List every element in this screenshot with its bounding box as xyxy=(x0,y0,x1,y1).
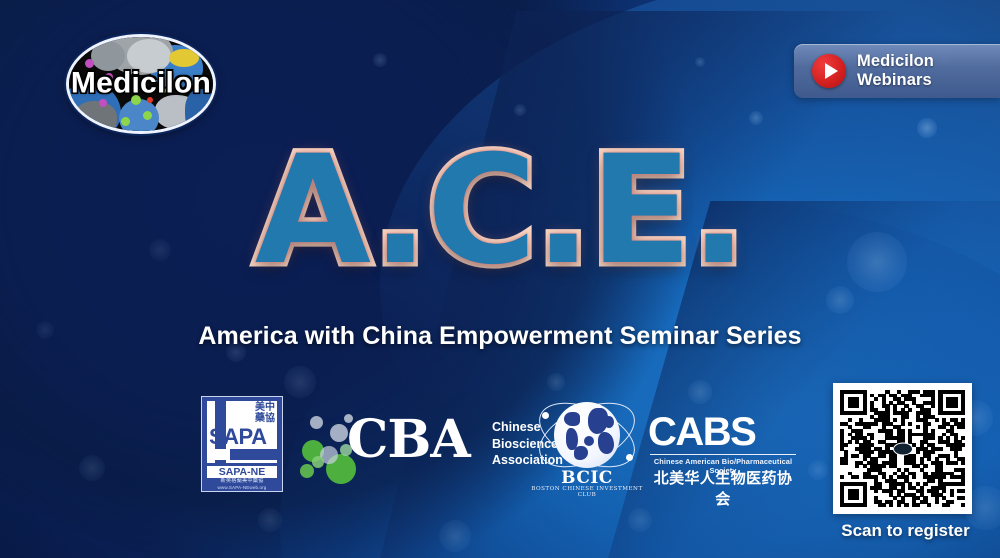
qr-code-icon[interactable] xyxy=(840,390,965,507)
partner-logo-bcic[interactable]: BCIC BOSTON CHINESE INVESTMENT CLUB xyxy=(528,390,646,500)
qr-center-logo-icon xyxy=(893,442,913,455)
cabs-divider xyxy=(650,454,796,455)
partner-logo-cba[interactable]: CBA Chinese Bioscience Association xyxy=(300,406,515,482)
sapa-chinese-subtitle: 新英格蘭美中藥協 xyxy=(207,478,277,485)
cba-wordmark: CBA xyxy=(347,412,470,468)
orbit-node-2 xyxy=(626,454,633,461)
cba-bubble xyxy=(312,456,324,468)
cba-bubble xyxy=(300,464,314,478)
globe-landmass xyxy=(574,446,588,460)
partner-logo-row: 美中 藥協 SAPA SAPA-NE 新英格蘭美中藥協 www.SAPA-NEw… xyxy=(0,388,820,508)
globe-landmass xyxy=(598,432,614,454)
medicilon-webinars-badge[interactable]: Medicilon Webinars xyxy=(794,44,1000,98)
sapa-cn-line1: 美中 xyxy=(255,403,275,414)
webinar-banner: Medicilon Medicilon Webinars A.C.E. Amer… xyxy=(0,0,1000,558)
webinars-badge-label: Medicilon Webinars xyxy=(857,52,934,91)
partner-logo-cabs[interactable]: CABS Chinese American Bio/Pharmaceutical… xyxy=(648,412,798,484)
orbit-node-1 xyxy=(542,412,549,419)
hero-title-wrap: A.C.E. xyxy=(0,136,1000,286)
globe-landmass xyxy=(564,412,580,426)
sapa-chinese-top: 美中 藥協 xyxy=(255,403,275,424)
medicilon-logo-text: Medicilon xyxy=(69,66,213,100)
sapa-emblem-icon: 美中 藥協 SAPA xyxy=(207,401,277,463)
page-subtitle: America with China Empowerment Seminar S… xyxy=(0,322,1000,351)
partner-logo-sapa[interactable]: 美中 藥協 SAPA SAPA-NE 新英格蘭美中藥協 www.SAPA-NEw… xyxy=(201,396,283,492)
qr-caption: Scan to register xyxy=(833,521,978,541)
bcic-wordmark: BCIC xyxy=(528,468,646,488)
webinars-line-2: Webinars xyxy=(857,71,932,89)
globe-landmass xyxy=(584,436,594,446)
cabs-chinese-name: 北美华人生物医药协会 xyxy=(648,467,798,509)
sapa-cn-line2: 藥協 xyxy=(255,414,275,425)
globe-landmass xyxy=(604,416,614,428)
sapa-chapter-label: SAPA-NE xyxy=(207,466,277,478)
sapa-wordmark: SAPA xyxy=(209,424,267,450)
cba-bubble xyxy=(330,424,348,442)
sapa-website: www.SAPA-NEweb.org xyxy=(207,485,277,491)
page-title: A.C.E. xyxy=(255,136,745,286)
play-icon xyxy=(812,54,846,88)
qr-registration-block[interactable]: Scan to register xyxy=(833,383,978,553)
medicilon-logo[interactable]: Medicilon xyxy=(66,34,216,134)
qr-code-card[interactable] xyxy=(833,383,972,514)
webinars-line-1: Medicilon xyxy=(857,52,934,70)
cabs-wordmark: CABS xyxy=(648,412,798,452)
cba-bubble xyxy=(310,416,323,429)
bcic-full-name: BOSTON CHINESE INVESTMENT CLUB xyxy=(528,486,646,498)
globe-icon xyxy=(554,402,620,468)
